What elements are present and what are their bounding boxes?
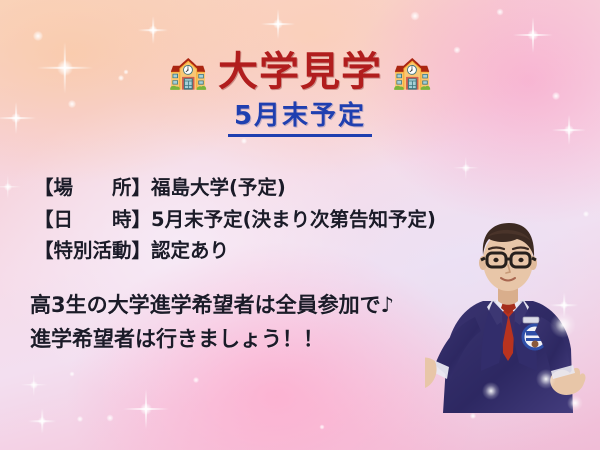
sparkle-icon: [138, 15, 168, 45]
teacher-illustration: [425, 213, 600, 428]
sparkle-icon: [21, 372, 47, 398]
page-subtitle: 5月末予定: [228, 102, 372, 137]
sparkle-icon: [123, 386, 169, 432]
detail-list: 【場 所】福島大学(予定) 【日 時】5月末予定(決まり次第告知予定) 【特別活…: [34, 172, 436, 267]
message-block: 高3生の大学進学希望者は全員参加で♪ 進学希望者は行きましょう！！: [30, 288, 394, 356]
message-line-1: 高3生の大学進学希望者は全員参加で♪: [30, 288, 394, 322]
sparkle-dot-icon: [320, 425, 325, 430]
sparkle-dot-icon: [497, 9, 504, 16]
sparkle-icon: [28, 407, 56, 435]
left-hand: [425, 358, 437, 390]
detail-line-datetime: 【日 時】5月末予定(決まり次第告知予定): [34, 204, 436, 236]
subtitle-wrap: 5月末予定: [0, 102, 600, 137]
sparkle-icon: [482, 382, 500, 400]
sparkle-dot-icon: [241, 138, 247, 144]
sparkle-dot-icon: [107, 415, 114, 422]
title-row: 🏫 大学見学 🏫: [0, 52, 600, 92]
sparkle-icon: [550, 312, 576, 338]
detail-line-location: 【場 所】福島大学(予定): [34, 172, 436, 204]
sparkle-dot-icon: [411, 12, 420, 21]
sparkle-icon: [513, 15, 553, 55]
sparkle-icon: [453, 155, 479, 181]
sparkle-dot-icon: [70, 372, 75, 377]
header: 🏫 大学見学 🏫 5月末予定: [0, 52, 600, 137]
sparkle-icon: [0, 174, 21, 200]
sparkle-dot-icon: [193, 377, 199, 383]
school-building-icon-left: 🏫: [168, 56, 208, 88]
announcement-slide: 🏫 大学見学 🏫 5月末予定 【場 所】福島大学(予定) 【日 時】5月末予定(…: [0, 0, 600, 450]
detail-line-special-activity: 【特別活動】認定あり: [34, 235, 436, 267]
page-title: 大学見学: [218, 52, 382, 92]
sparkle-icon: [536, 369, 556, 389]
sparkle-icon: [261, 7, 295, 41]
message-line-2: 進学希望者は行きましょう！！: [30, 322, 394, 356]
sparkle-dot-icon: [33, 31, 43, 41]
school-building-icon-right: 🏫: [392, 56, 432, 88]
sparkle-dot-icon: [77, 416, 83, 422]
sparkle-icon: [567, 395, 583, 411]
